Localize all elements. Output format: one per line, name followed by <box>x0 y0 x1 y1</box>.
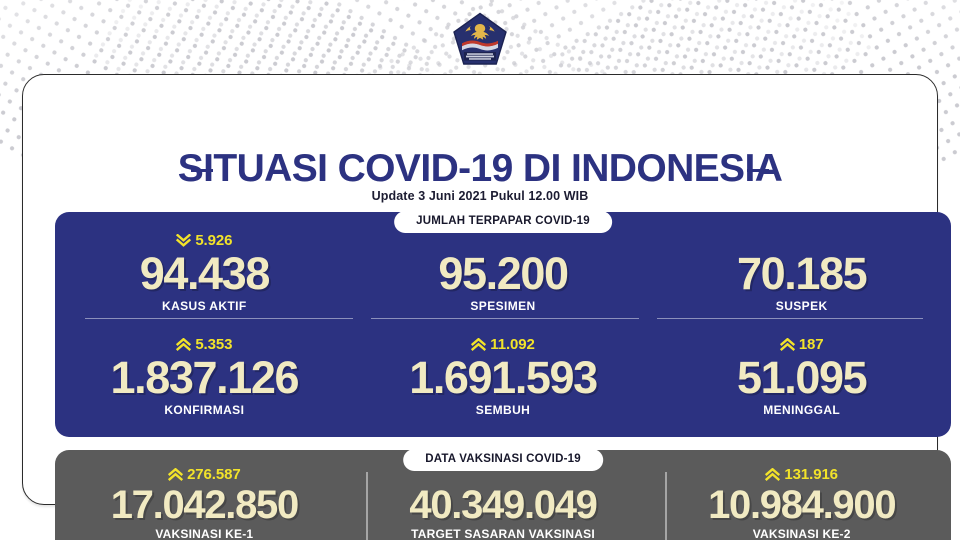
delta-meninggal: 187 <box>658 334 945 354</box>
cases-divider-2 <box>371 318 639 319</box>
chevron-double-up-icon <box>176 338 191 351</box>
vaccination-row: 276.587 17.042.850 VAKSINASI KE-1 40.349… <box>55 464 951 540</box>
chevron-double-up-icon <box>168 468 183 481</box>
delta-vaksinasi-ke-1: 276.587 <box>61 464 348 484</box>
delta-value-meninggal: 187 <box>799 336 824 353</box>
metric-sembuh: 11.092 1.691.593 SEMBUH <box>354 334 653 417</box>
value-konfirmasi: 1.837.126 <box>61 354 348 402</box>
cases-row-top: 5.926 94.438 KASUS AKTIF 95.200 SPESIMEN <box>55 230 951 313</box>
update-timestamp: Update 3 Juni 2021 Pukul 12.00 WIB <box>23 189 937 203</box>
chevron-double-down-icon <box>176 234 191 247</box>
delta-value-vaksinasi-ke-1: 276.587 <box>187 466 241 483</box>
label-kasus-aktif: KASUS AKTIF <box>61 299 348 313</box>
kemenkes-garuda-logo-icon <box>452 12 508 70</box>
covid-infographic: SITUASI COVID-19 DI INDONESIA Update 3 J… <box>0 0 960 540</box>
delta-konfirmasi: 5.353 <box>61 334 348 354</box>
cases-divider-3 <box>657 318 923 319</box>
delta-sembuh: 11.092 <box>360 334 647 354</box>
cases-row-bottom: 5.353 1.837.126 KONFIRMASI 11.092 1.691.… <box>55 334 951 417</box>
chevron-double-up-icon <box>471 338 486 351</box>
metric-suspek: 70.185 SUSPEK <box>652 230 951 313</box>
vaccination-panel: DATA VAKSINASI COVID-19 276.587 17.042.8… <box>55 450 951 540</box>
metric-kasus-aktif: 5.926 94.438 KASUS AKTIF <box>55 230 354 313</box>
cases-divider-1 <box>85 318 353 319</box>
value-sembuh: 1.691.593 <box>360 354 647 402</box>
page-title-container: SITUASI COVID-19 DI INDONESIA <box>23 147 937 191</box>
cases-panel: JUMLAH TERPAPAR COVID-19 5.926 94.438 KA… <box>55 212 951 437</box>
page-title: SITUASI COVID-19 DI INDONESIA <box>23 147 937 191</box>
delta-kasus-aktif: 5.926 <box>61 230 348 250</box>
chevron-double-up-icon <box>780 338 795 351</box>
metric-vaksinasi-ke-2: 131.916 10.984.900 VAKSINASI KE-2 <box>652 464 951 540</box>
label-sembuh: SEMBUH <box>360 403 647 417</box>
metric-target-sasaran-vaksinasi: 40.349.049 TARGET SASARAN VAKSINASI <box>354 464 653 540</box>
value-suspek: 70.185 <box>658 250 945 298</box>
metric-spesimen: 95.200 SPESIMEN <box>354 230 653 313</box>
label-konfirmasi: KONFIRMASI <box>61 403 348 417</box>
delta-vaksinasi-ke-2: 131.916 <box>658 464 945 484</box>
label-suspek: SUSPEK <box>658 299 945 313</box>
value-vaksinasi-ke-2: 10.984.900 <box>658 484 945 526</box>
value-target-sasaran-vaksinasi: 40.349.049 <box>360 484 647 526</box>
delta-value-kasus-aktif: 5.926 <box>195 232 232 249</box>
logo-container <box>0 12 960 70</box>
delta-value-sembuh: 11.092 <box>490 336 534 353</box>
metric-meninggal: 187 51.095 MENINGGAL <box>652 334 951 417</box>
label-meninggal: MENINGGAL <box>658 403 945 417</box>
value-kasus-aktif: 94.438 <box>61 250 348 298</box>
value-meninggal: 51.095 <box>658 354 945 402</box>
chevron-double-up-icon <box>765 468 780 481</box>
value-vaksinasi-ke-1: 17.042.850 <box>61 484 348 526</box>
metric-konfirmasi: 5.353 1.837.126 KONFIRMASI <box>55 334 354 417</box>
delta-value-konfirmasi: 5.353 <box>195 336 232 353</box>
delta-value-vaksinasi-ke-2: 131.916 <box>784 466 838 483</box>
metric-vaksinasi-ke-1: 276.587 17.042.850 VAKSINASI KE-1 <box>55 464 354 540</box>
content-frame: SITUASI COVID-19 DI INDONESIA Update 3 J… <box>22 74 938 505</box>
label-spesimen: SPESIMEN <box>360 299 647 313</box>
label-target-sasaran-vaksinasi: TARGET SASARAN VAKSINASI <box>360 527 647 540</box>
label-vaksinasi-ke-2: VAKSINASI KE-2 <box>658 527 945 540</box>
label-vaksinasi-ke-1: VAKSINASI KE-1 <box>61 527 348 540</box>
value-spesimen: 95.200 <box>360 250 647 298</box>
